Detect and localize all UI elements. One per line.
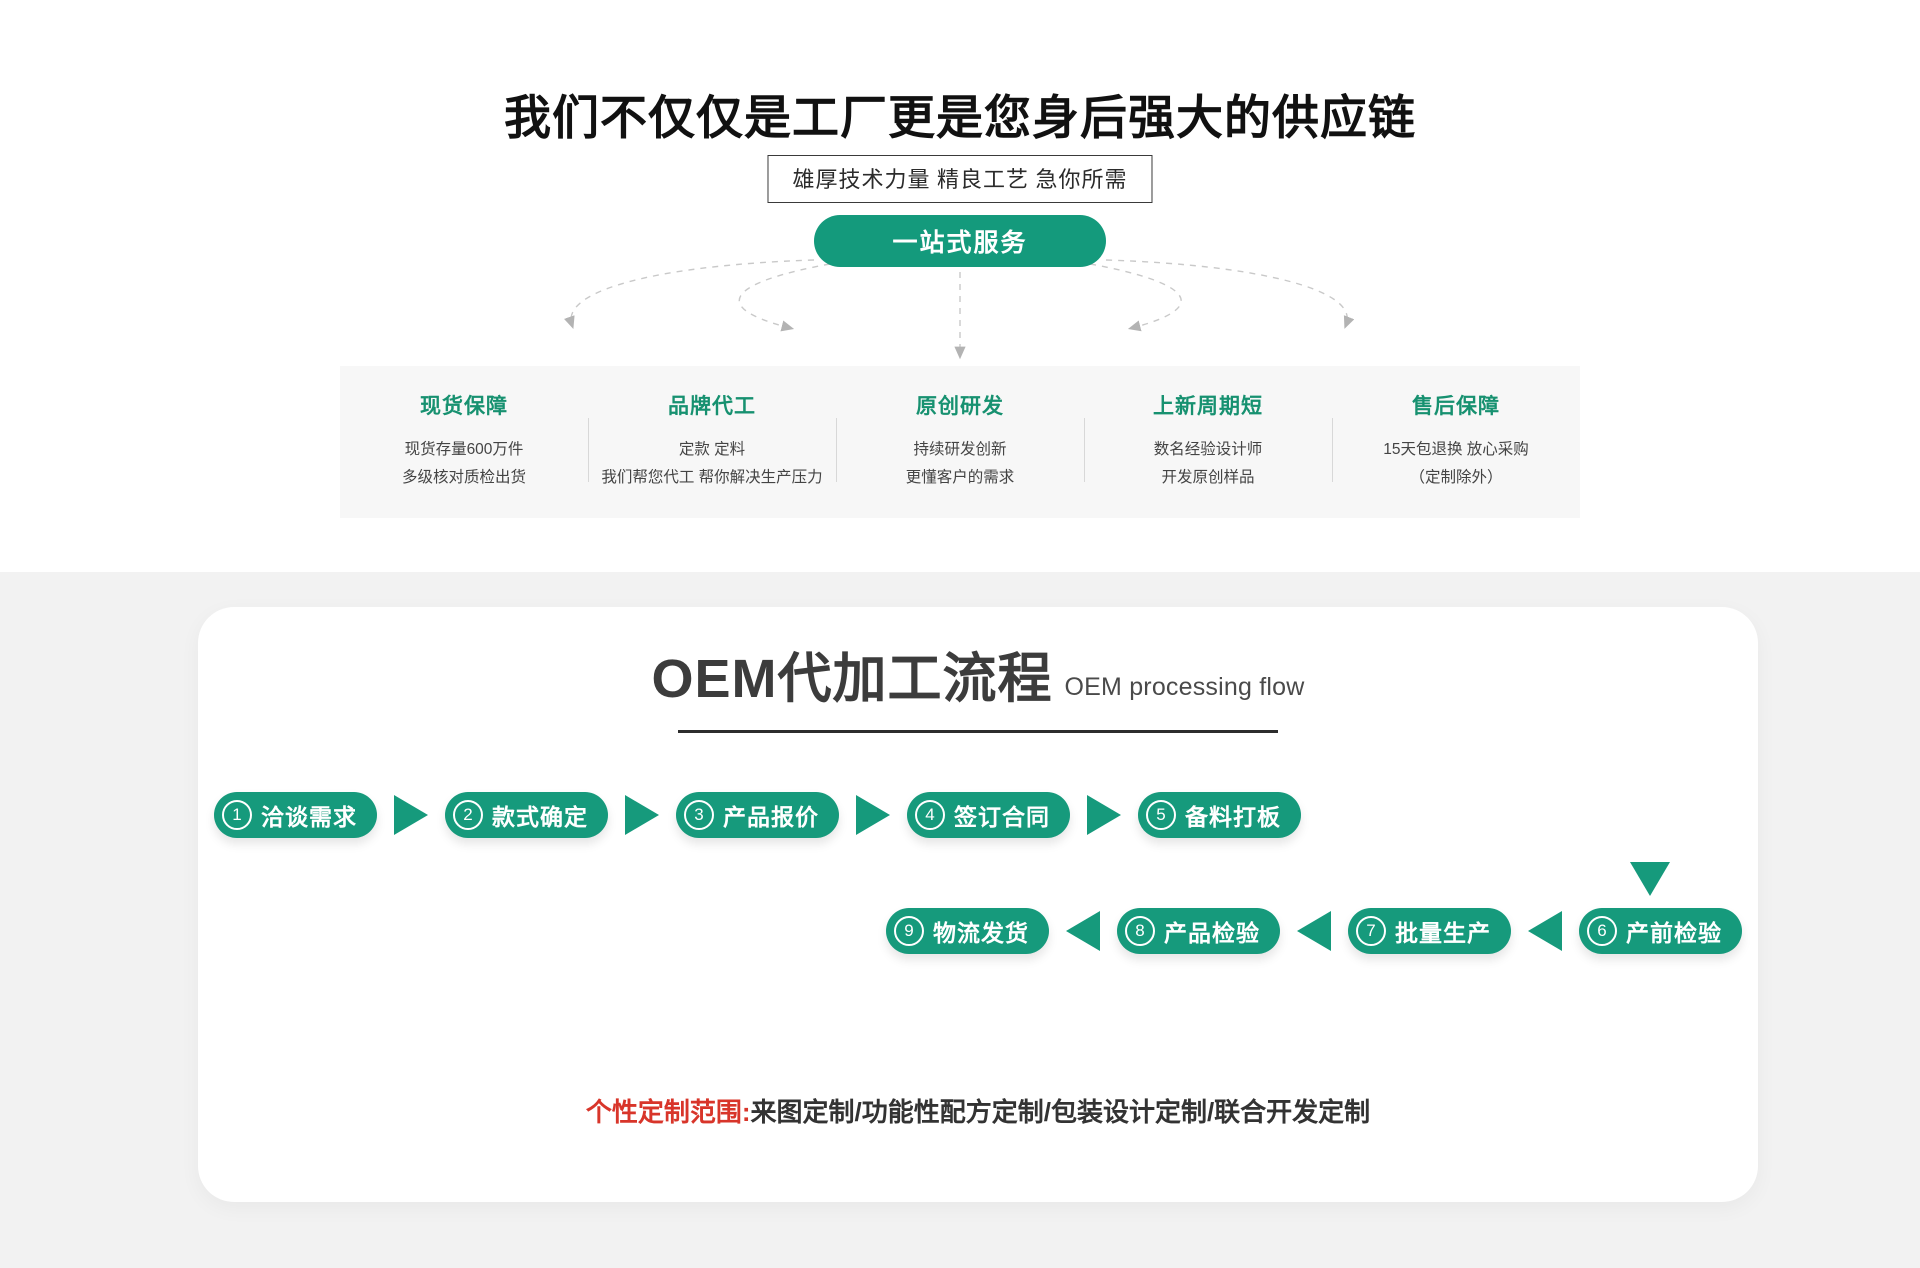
feature-title: 现货保障 bbox=[420, 390, 508, 420]
page-root: 我们不仅仅是工厂更是您身后强大的供应链 雄厚技术力量 精良工艺 急你所需 一站式… bbox=[0, 0, 1920, 1268]
feature-title: 品牌代工 bbox=[668, 390, 756, 420]
arrow-left-icon bbox=[1528, 911, 1562, 951]
oem-card: OEM代加工流程 OEM processing flow 1 洽谈需求 2 款式… bbox=[198, 607, 1758, 1202]
step-number: 1 bbox=[222, 800, 252, 830]
feature-line: 我们帮您代工 帮你解决生产压力 bbox=[601, 464, 822, 492]
feature-column-5: 售后保障 15天包退换 放心采购 （定制除外） bbox=[1332, 366, 1580, 518]
feature-line: 定款 定料 bbox=[679, 436, 745, 464]
arrow-left-icon bbox=[1297, 911, 1331, 951]
flow-step-8[interactable]: 8 产品检验 bbox=[1117, 908, 1280, 954]
step-number: 5 bbox=[1146, 800, 1176, 830]
feature-column-4: 上新周期短 数名经验设计师 开发原创样品 bbox=[1084, 366, 1332, 518]
feature-title: 售后保障 bbox=[1412, 390, 1500, 420]
oem-heading: OEM代加工流程 OEM processing flow bbox=[198, 652, 1758, 706]
flow-step-4[interactable]: 4 签订合同 bbox=[907, 792, 1070, 838]
flow-step-5[interactable]: 5 备料打板 bbox=[1138, 792, 1301, 838]
arrow-down-icon bbox=[1630, 862, 1670, 896]
feature-line: 开发原创样品 bbox=[1161, 464, 1254, 492]
oem-flow-diagram: 1 洽谈需求 2 款式确定 3 产品报价 4 bbox=[198, 772, 1758, 974]
feature-line: （定制除外） bbox=[1409, 464, 1502, 492]
feature-title: 原创研发 bbox=[916, 390, 1004, 420]
flow-step-3[interactable]: 3 产品报价 bbox=[676, 792, 839, 838]
feature-column-2: 品牌代工 定款 定料 我们帮您代工 帮你解决生产压力 bbox=[588, 366, 836, 518]
flow-step-7[interactable]: 7 批量生产 bbox=[1348, 908, 1511, 954]
flow-step-1[interactable]: 1 洽谈需求 bbox=[214, 792, 377, 838]
step-number: 8 bbox=[1125, 916, 1155, 946]
custom-range-label: 个性定制范围: bbox=[586, 1097, 751, 1127]
step-number: 6 bbox=[1587, 916, 1617, 946]
oem-flow-row-1: 1 洽谈需求 2 款式确定 3 产品报价 4 bbox=[198, 772, 1758, 858]
custom-range-note: 个性定制范围:来图定制/功能性配方定制/包装设计定制/联合开发定制 bbox=[198, 1092, 1758, 1129]
feature-line: 多级核对质检出货 bbox=[402, 464, 526, 492]
flow-step-2[interactable]: 2 款式确定 bbox=[445, 792, 608, 838]
feature-line: 持续研发创新 bbox=[913, 436, 1006, 464]
oem-flow-row-2: 9 物流发货 8 产品检验 7 批量生产 6 bbox=[198, 888, 1758, 974]
step-label: 批量生产 bbox=[1395, 914, 1491, 948]
oem-heading-divider bbox=[678, 730, 1278, 733]
step-label: 洽谈需求 bbox=[261, 798, 357, 832]
step-number: 3 bbox=[684, 800, 714, 830]
step-label: 产品报价 bbox=[723, 798, 819, 832]
flow-step-6[interactable]: 6 产前检验 bbox=[1579, 908, 1742, 954]
arrow-right-icon bbox=[1087, 795, 1121, 835]
feature-column-3: 原创研发 持续研发创新 更懂客户的需求 bbox=[836, 366, 1084, 518]
step-number: 2 bbox=[453, 800, 483, 830]
step-label: 产前检验 bbox=[1626, 914, 1722, 948]
step-label: 产品检验 bbox=[1164, 914, 1260, 948]
step-label: 备料打板 bbox=[1185, 798, 1281, 832]
arrow-left-icon bbox=[1066, 911, 1100, 951]
flow-step-9[interactable]: 9 物流发货 bbox=[886, 908, 1049, 954]
feature-column-1: 现货保障 现货存量600万件 多级核对质检出货 bbox=[340, 366, 588, 518]
hero-section: 我们不仅仅是工厂更是您身后强大的供应链 雄厚技术力量 精良工艺 急你所需 一站式… bbox=[0, 0, 1920, 572]
arrow-right-icon bbox=[394, 795, 428, 835]
oem-heading-cn: OEM代加工流程 bbox=[651, 652, 1052, 706]
step-label: 物流发货 bbox=[933, 914, 1029, 948]
feature-line: 更懂客户的需求 bbox=[906, 464, 1015, 492]
step-number: 4 bbox=[915, 800, 945, 830]
page-title: 我们不仅仅是工厂更是您身后强大的供应链 bbox=[0, 79, 1920, 148]
custom-range-value: 来图定制/功能性配方定制/包装设计定制/联合开发定制 bbox=[751, 1097, 1371, 1127]
feature-title: 上新周期短 bbox=[1153, 390, 1263, 420]
feature-line: 现货存量600万件 bbox=[405, 436, 524, 464]
feature-line: 15天包退换 放心采购 bbox=[1383, 436, 1529, 464]
arrow-right-icon bbox=[625, 795, 659, 835]
step-label: 签订合同 bbox=[954, 798, 1050, 832]
oem-process-section: OEM代加工流程 OEM processing flow 1 洽谈需求 2 款式… bbox=[0, 572, 1920, 1268]
step-label: 款式确定 bbox=[492, 798, 588, 832]
step-number: 9 bbox=[894, 916, 924, 946]
feature-line: 数名经验设计师 bbox=[1154, 436, 1263, 464]
oem-heading-en: OEM processing flow bbox=[1065, 673, 1305, 706]
step-number: 7 bbox=[1356, 916, 1386, 946]
one-stop-service-badge: 一站式服务 bbox=[814, 215, 1106, 267]
arrow-right-icon bbox=[856, 795, 890, 835]
hero-subtitle-box: 雄厚技术力量 精良工艺 急你所需 bbox=[767, 155, 1152, 203]
features-panel: 现货保障 现货存量600万件 多级核对质检出货 品牌代工 定款 定料 我们帮您代… bbox=[340, 366, 1580, 518]
